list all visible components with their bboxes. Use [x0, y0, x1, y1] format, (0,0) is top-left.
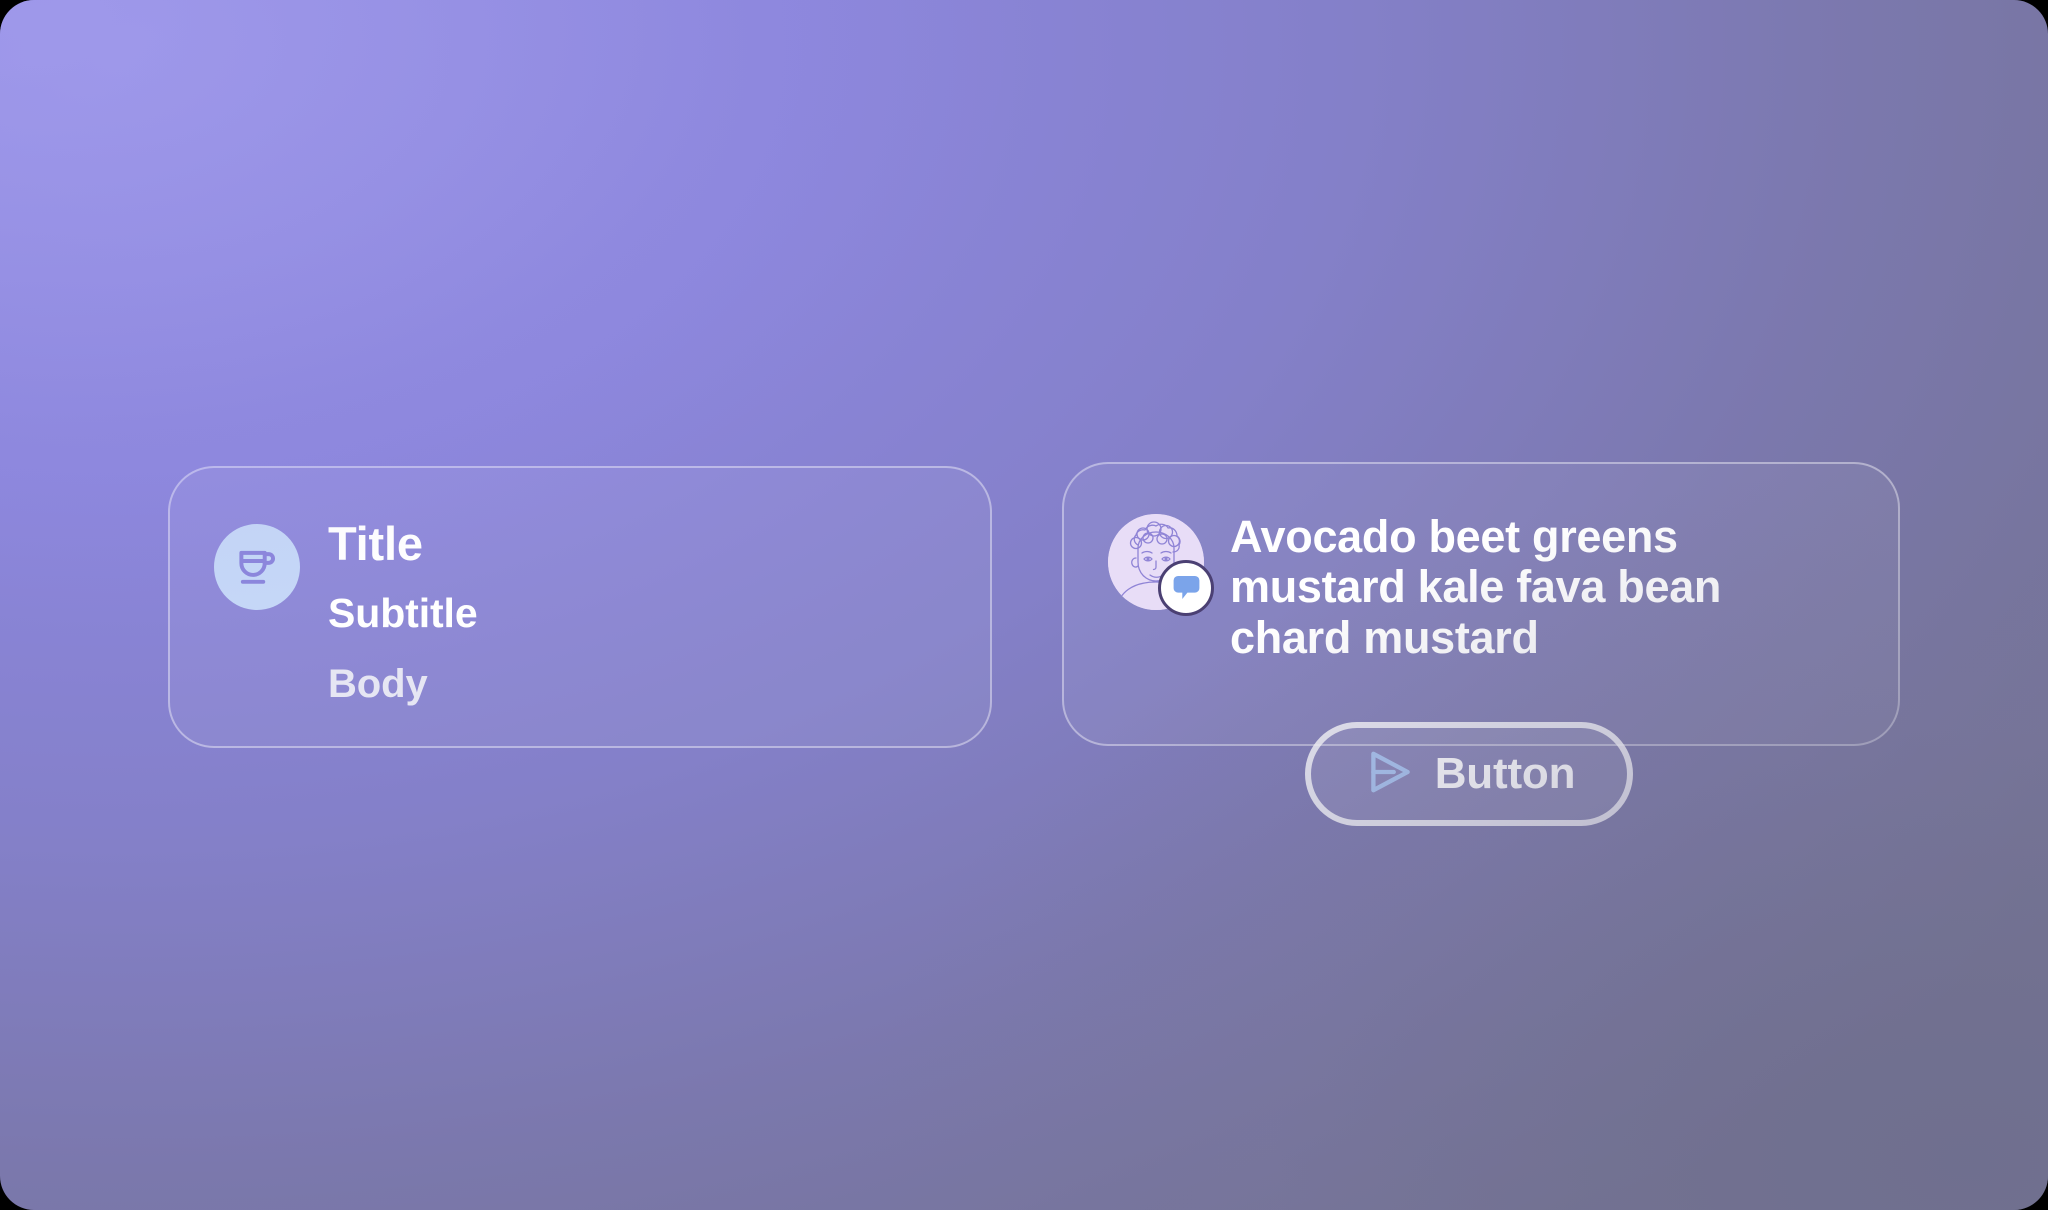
chat-bubble-icon	[1158, 560, 1214, 616]
message-card[interactable]: Avocado beet greens mustard kale fava be…	[1062, 462, 1900, 746]
app-canvas: Title Subtitle Body	[0, 0, 2048, 1210]
info-card-text: Title Subtitle Body	[328, 520, 478, 704]
send-button[interactable]: Button	[1305, 722, 1633, 826]
card-body: Body	[328, 664, 478, 704]
info-card[interactable]: Title Subtitle Body	[168, 466, 992, 748]
coffee-cup-icon	[214, 524, 300, 610]
send-triangle-icon	[1363, 746, 1415, 803]
card-subtitle: Subtitle	[328, 593, 478, 634]
send-button-label: Button	[1435, 752, 1576, 796]
message-text: Avocado beet greens mustard kale fava be…	[1230, 512, 1850, 663]
page-title: Title	[328, 520, 478, 567]
avatar[interactable]	[1108, 514, 1204, 610]
